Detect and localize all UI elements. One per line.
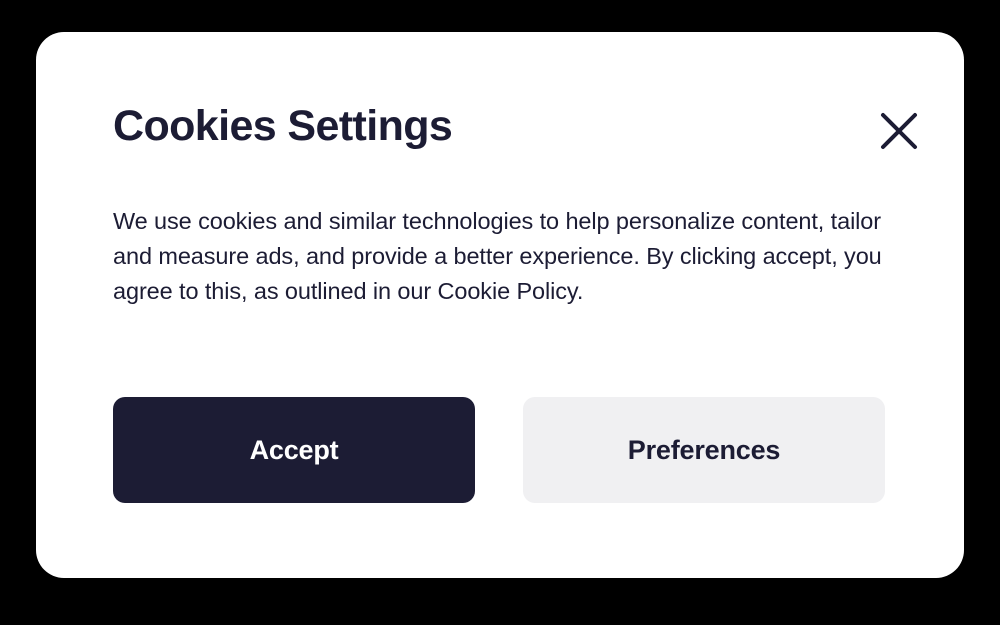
close-x-icon — [880, 112, 918, 150]
dialog-actions: Accept Preferences — [113, 397, 885, 503]
cookie-consent-dialog: Cookies Settings We use cookies and simi… — [36, 32, 964, 578]
preferences-button[interactable]: Preferences — [523, 397, 885, 503]
close-button[interactable] — [876, 108, 922, 154]
dialog-header: Cookies Settings — [113, 104, 922, 154]
page-title: Cookies Settings — [113, 104, 452, 149]
consent-description: We use cookies and similar technologies … — [113, 204, 899, 309]
accept-button[interactable]: Accept — [113, 397, 475, 503]
dialog-body: We use cookies and similar technologies … — [113, 204, 899, 309]
